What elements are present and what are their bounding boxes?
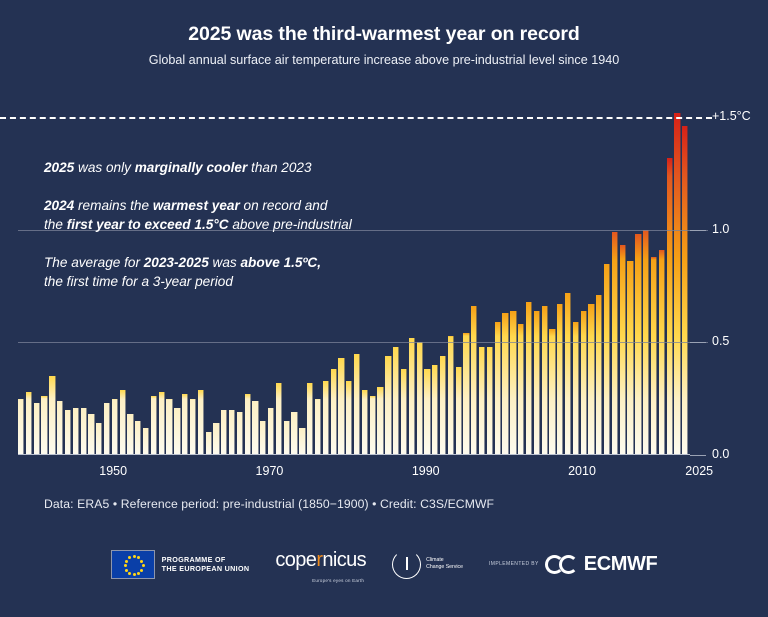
bar-1945 — [57, 401, 63, 455]
climate-change-service-logo: Climate Change Service — [392, 550, 463, 579]
bar-1955 — [135, 421, 141, 455]
bar-1954 — [127, 414, 133, 455]
bar-1975 — [291, 412, 297, 455]
bar-1971 — [260, 421, 266, 455]
ccs-line1: Climate — [426, 557, 463, 564]
implemented-by-label: IMPLEMENTED BY — [489, 561, 539, 567]
credit-line: Data: ERA5 • Reference period: pre-indus… — [44, 497, 494, 511]
bar-1976 — [299, 428, 305, 455]
annotation-block: 2025 was only marginally cooler than 202… — [44, 158, 444, 292]
ccs-text: Climate Change Service — [426, 557, 463, 570]
y-tick-mark — [690, 342, 706, 343]
copernicus-name: copernicus — [275, 551, 366, 570]
bar-2000 — [487, 347, 493, 455]
bar-1949 — [88, 414, 94, 455]
bar-1960 — [174, 408, 180, 455]
bar-1951 — [104, 403, 110, 455]
bar-1980 — [331, 369, 337, 455]
bar-2016 — [612, 232, 618, 455]
eu-star-icon — [140, 569, 143, 572]
bar-1966 — [221, 410, 227, 455]
bar-1948 — [81, 408, 87, 455]
bar-2005 — [526, 302, 532, 455]
bar-2009 — [557, 304, 563, 455]
x-axis-baseline — [18, 454, 690, 456]
bar-2014 — [596, 295, 602, 455]
ecmwf-name: ECMWF — [584, 553, 658, 576]
bar-1970 — [252, 401, 258, 455]
ecmwf-mark-icon — [545, 555, 578, 574]
bar-2022 — [659, 250, 665, 455]
bar-1964 — [206, 432, 212, 455]
bar-2023 — [667, 158, 673, 455]
annotation-a1: 2025 was only marginally cooler than 202… — [44, 158, 444, 178]
bar-1947 — [73, 408, 79, 455]
bar-1946 — [65, 410, 71, 455]
ccs-line2: Change Service — [426, 564, 463, 571]
bar-1967 — [229, 410, 235, 455]
copernicus-tagline: Europe's eyes on Earth — [312, 578, 364, 583]
bar-2008 — [549, 329, 555, 455]
eu-star-icon — [137, 556, 140, 559]
bar-1990 — [409, 338, 415, 455]
copernicus-wordmark: copernicus — [275, 551, 366, 570]
gridline-0.5 — [18, 342, 708, 343]
thermometer-arc-icon — [392, 550, 421, 579]
annotation-a2: 2024 remains the warmest year on record … — [44, 196, 444, 235]
bar-1961 — [182, 394, 188, 455]
bar-1989 — [401, 369, 407, 455]
bar-1997 — [463, 333, 469, 455]
bar-2006 — [534, 311, 540, 455]
bar-1974 — [284, 421, 290, 455]
bar-1972 — [268, 408, 274, 455]
eu-logo-line1: PROGRAMME OF — [162, 555, 250, 564]
eu-star-icon — [133, 555, 136, 558]
threshold-line-1-5c — [0, 117, 712, 119]
bar-1968 — [237, 412, 243, 455]
eu-star-icon — [142, 564, 145, 567]
bar-2024 — [674, 113, 680, 455]
eu-star-icon — [124, 564, 127, 567]
bar-1940 — [18, 399, 24, 455]
eu-star-icon — [125, 560, 128, 563]
bar-1994 — [440, 356, 446, 455]
bar-1992 — [424, 369, 430, 455]
bar-1985 — [370, 396, 376, 455]
y-axis-label-1.0: 1.0 — [712, 222, 729, 236]
bar-2012 — [581, 311, 587, 455]
bar-1987 — [385, 356, 391, 455]
logo-bar: PROGRAMME OF THE EUROPEAN UNION copernic… — [0, 543, 768, 585]
bar-1982 — [346, 381, 352, 455]
bar-1953 — [120, 390, 126, 455]
eu-star-icon — [125, 569, 128, 572]
y-tick-mark — [690, 455, 706, 456]
bar-2010 — [565, 293, 571, 455]
bar-2019 — [635, 234, 641, 455]
eu-star-icon — [137, 572, 140, 575]
bar-2002 — [502, 313, 508, 455]
bar-1965 — [213, 423, 219, 455]
bar-1986 — [377, 387, 383, 455]
bar-1977 — [307, 383, 313, 455]
y-tick-mark — [690, 230, 706, 231]
bar-1998 — [471, 306, 477, 455]
bar-1969 — [245, 394, 251, 455]
eu-star-icon — [128, 556, 131, 559]
bar-1979 — [323, 381, 329, 455]
eu-star-icon — [133, 573, 136, 576]
eu-logo-line2: THE EUROPEAN UNION — [162, 564, 250, 573]
bar-2004 — [518, 324, 524, 455]
infographic-root: 2025 was the third-warmest year on recor… — [0, 0, 768, 617]
bar-1973 — [276, 383, 282, 455]
bar-1995 — [448, 336, 454, 455]
bar-1988 — [393, 347, 399, 455]
eu-star-icon — [128, 572, 131, 575]
bar-2013 — [588, 304, 594, 455]
bar-1983 — [354, 354, 360, 455]
bar-1952 — [112, 399, 118, 455]
bar-1984 — [362, 390, 368, 455]
bar-2018 — [627, 261, 633, 455]
bar-1943 — [41, 396, 47, 455]
bar-2017 — [620, 245, 626, 455]
bar-1991 — [417, 342, 423, 455]
eu-logo-text: PROGRAMME OF THE EUROPEAN UNION — [162, 555, 250, 573]
y-axis-label-0.0: 0.0 — [712, 447, 729, 461]
eu-flag-icon — [111, 550, 155, 579]
bar-1944 — [49, 376, 55, 455]
eu-logo: PROGRAMME OF THE EUROPEAN UNION — [111, 550, 250, 579]
bar-1959 — [166, 399, 172, 455]
bar-1942 — [34, 403, 40, 455]
eu-star-icon — [140, 560, 143, 563]
bar-2025 — [682, 126, 688, 455]
bar-2015 — [604, 264, 610, 456]
bar-1962 — [190, 399, 196, 455]
bar-1993 — [432, 365, 438, 455]
annotation-a3: The average for 2023-2025 was above 1.5º… — [44, 253, 444, 292]
copernicus-dot-icon: r — [316, 549, 322, 571]
copernicus-logo: copernicus Europe's eyes on Earth — [275, 551, 366, 577]
y-axis-label-+1.5°C: +1.5°C — [712, 109, 751, 123]
bar-1999 — [479, 347, 485, 455]
bar-1996 — [456, 367, 462, 455]
bar-2003 — [510, 311, 516, 455]
bar-1963 — [198, 390, 204, 455]
bar-1941 — [26, 392, 32, 455]
bar-1978 — [315, 399, 321, 455]
bar-1956 — [143, 428, 149, 455]
ecmwf-logo: IMPLEMENTED BY ECMWF — [489, 553, 657, 576]
bar-1981 — [338, 358, 344, 455]
bar-2021 — [651, 257, 657, 455]
bar-2007 — [542, 306, 548, 455]
y-axis-label-0.5: 0.5 — [712, 334, 729, 348]
bar-1958 — [159, 392, 165, 455]
bar-1950 — [96, 423, 102, 455]
bar-1957 — [151, 396, 157, 455]
